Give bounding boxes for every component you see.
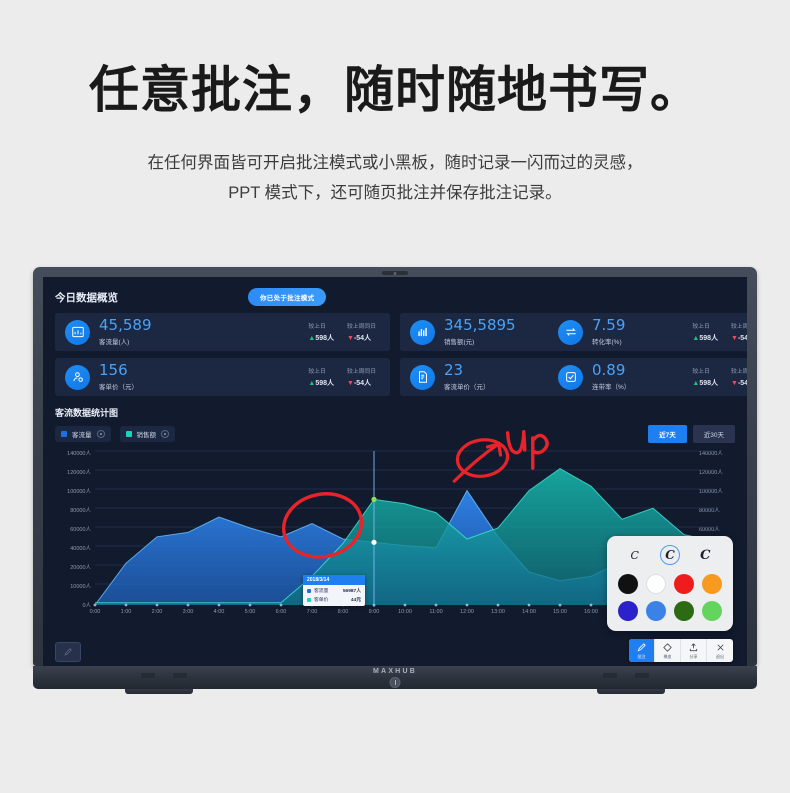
legend-toggle-icon[interactable]: [161, 430, 169, 438]
arrow-down-icon: ▼: [731, 380, 738, 387]
x-axis-tick: 12:00: [460, 609, 474, 615]
swatch-white[interactable]: [646, 574, 666, 594]
chart-tooltip: 2018/3/14 客流量 56987人 客单价 44元: [303, 575, 365, 606]
port: [603, 673, 617, 678]
legend-label: 销售额: [137, 429, 157, 439]
tooltip-row-unit-price: 客单价 44元: [303, 594, 365, 606]
promo-subtitle: 在任何界面皆可开启批注模式或小黑板，随时记录一闪而过的灵感， PPT 模式下，还…: [0, 148, 790, 209]
share-icon: [688, 642, 699, 653]
range-button-7days[interactable]: 近7天: [648, 425, 687, 443]
kpi-deltas: 较上日 ▲598人 较上周同日 ▼-54人: [308, 366, 380, 388]
pen-width-thin[interactable]: C: [625, 545, 645, 565]
delta-week-value: -54人: [354, 335, 371, 342]
legend-swatch-icon: [61, 431, 67, 437]
swatch-indigo[interactable]: [618, 601, 638, 621]
color-swatch-grid: [617, 574, 723, 621]
arrow-down-icon: ▼: [347, 380, 354, 387]
dashboard: 今日数据概览 你已处于批注模式 45,589 客流: [43, 277, 747, 666]
tool-label: 分享: [690, 654, 698, 660]
swatch-black[interactable]: [618, 574, 638, 594]
promo-subtitle-line-2: PPT 模式下，还可随页批注并保存批注记录。: [228, 184, 561, 202]
range-button-30days[interactable]: 近30天: [693, 425, 735, 443]
port: [141, 673, 155, 678]
kpi-card-visitors[interactable]: 45,589 客流量(人) 较上日 ▲598人 较上周同日 ▼-54人: [55, 313, 390, 351]
legend-toggle-icon[interactable]: [97, 430, 105, 438]
chart-legend: 客流量 销售额 近7天 近30天: [55, 425, 735, 443]
legend-item-visitors[interactable]: 客流量: [55, 426, 111, 442]
delta-week-caption: 较上周同日: [347, 366, 376, 375]
camera-icon: [382, 271, 408, 275]
x-axis-tick: 2:00: [152, 609, 163, 615]
eraser-icon: [662, 642, 673, 653]
promo-subtitle-line-1: 在任何界面皆可开启批注模式或小黑板，随时记录一闪而过的灵感，: [148, 154, 643, 172]
tool-label: 橡皮: [664, 654, 672, 660]
swatch-blue[interactable]: [646, 601, 666, 621]
kpi-deltas: 较上日 ▲598人 较上周同日 ▼-54人: [308, 321, 380, 343]
kpi-value: 45,589: [99, 318, 308, 333]
tool-exit[interactable]: 退出: [707, 639, 733, 662]
user-settings-icon: [65, 365, 90, 390]
pen-palette-panel[interactable]: C C C: [607, 536, 733, 631]
power-button[interactable]: [390, 677, 401, 688]
tool-eraser[interactable]: 橡皮: [655, 639, 681, 662]
kpi-label: 转化率(%): [592, 336, 692, 346]
device-screen: 今日数据概览 你已处于批注模式 45,589 客流: [43, 277, 747, 666]
x-axis-tick: 4:00: [214, 609, 225, 615]
dashboard-title: 今日数据概览: [55, 290, 118, 305]
range-button-group: 近7天 近30天: [648, 425, 735, 443]
delta-day-value: 598人: [315, 335, 334, 342]
kpi-label: 客流量(人): [99, 336, 308, 346]
chart-title: 客流数据统计图: [55, 406, 118, 419]
exchange-icon: [558, 320, 583, 345]
x-axis-tick: 10:00: [398, 609, 412, 615]
delta-day-caption: 较上日: [692, 366, 718, 375]
x-axis-tick: 14:00: [522, 609, 536, 615]
x-axis-tick: 8:00: [338, 609, 349, 615]
device-foot: [597, 689, 665, 694]
interactive-display-device: 今日数据概览 你已处于批注模式 45,589 客流: [33, 267, 757, 689]
delta-day-value: 598人: [699, 380, 718, 387]
chart-header: 客流数据统计图: [55, 406, 735, 419]
x-axis-tick: 9:00: [369, 609, 380, 615]
legend-item-sales[interactable]: 销售额: [120, 426, 176, 442]
document-icon: [410, 365, 435, 390]
kpi-value: 156: [99, 363, 308, 378]
swatch-light-green[interactable]: [702, 601, 722, 621]
delta-week-caption: 较上周同日: [731, 366, 747, 375]
arrow-down-icon: ▼: [731, 335, 738, 342]
legend-label: 客流量: [72, 429, 92, 439]
snapshot-thumbnail-button[interactable]: [55, 642, 81, 662]
annotation-toolbar: 批注 橡皮 分享: [629, 639, 733, 662]
x-axis-tick: 3:00: [183, 609, 194, 615]
swatch-red[interactable]: [674, 574, 694, 594]
delta-day-caption: 较上日: [308, 366, 334, 375]
swatch-orange[interactable]: [702, 574, 722, 594]
x-axis-tick: 6:00: [276, 609, 287, 615]
tool-label: 退出: [716, 654, 724, 660]
page-title: 任意批注，随时随地书写。: [0, 62, 790, 120]
kpi-deltas: 较上日 ▲598人 较上周同日 ▼-54人: [692, 321, 747, 343]
x-axis-tick: 0:00: [90, 609, 101, 615]
kpi-card-conversion[interactable]: 7.59 转化率(%) 较上日 ▲598人 较上周同日 ▼-54人: [548, 313, 747, 351]
device-stand: MAXHUB: [33, 666, 757, 689]
delta-day-value: 598人: [315, 380, 334, 387]
x-axis-tick: 5:00: [245, 609, 256, 615]
kpi-card-attach-rate[interactable]: 0.89 连带率（%） 较上日 ▲598人 较上周同日 ▼-54人: [548, 358, 747, 396]
swatch-dark-green[interactable]: [674, 601, 694, 621]
x-axis-tick: 13:00: [491, 609, 505, 615]
kpi-value: 7.59: [592, 318, 692, 333]
close-icon: [715, 642, 726, 653]
kpi-deltas: 较上日 ▲598人 较上周同日 ▼-54人: [692, 366, 747, 388]
device-foot: [125, 689, 193, 694]
pen-icon: [63, 647, 73, 657]
checkbox-icon: [558, 365, 583, 390]
delta-week-value: -54人: [354, 380, 371, 387]
tooltip-value: 56987人: [343, 587, 361, 594]
arrow-down-icon: ▼: [347, 335, 354, 342]
tooltip-date: 2018/3/14: [303, 575, 365, 585]
tooltip-value: 44元: [351, 596, 361, 603]
kpi-label: 客单价（元）: [99, 381, 308, 391]
x-axis-tick: 15:00: [553, 609, 567, 615]
delta-week-caption: 较上周同日: [347, 321, 376, 330]
bar-chart-icon: [410, 320, 435, 345]
tool-label: 批注: [638, 654, 646, 660]
port: [635, 673, 649, 678]
tooltip-swatch-icon: [307, 598, 311, 602]
pen-width-medium[interactable]: C: [660, 545, 680, 565]
device-bezel: 今日数据概览 你已处于批注模式 45,589 客流: [33, 267, 757, 666]
brand-logo: MAXHUB: [373, 668, 417, 675]
delta-day-caption: 较上日: [692, 321, 718, 330]
port: [173, 673, 187, 678]
tooltip-row-visitors: 客流量 56987人: [303, 585, 365, 594]
bar-chart-box-icon: [65, 320, 90, 345]
x-axis-tick: 11:00: [429, 609, 442, 615]
delta-week-caption: 较上周同日: [731, 321, 747, 330]
promo-section: 任意批注，随时随地书写。 在任何界面皆可开启批注模式或小黑板，随时记录一闪而过的…: [0, 0, 790, 209]
tooltip-label: 客流量: [314, 587, 328, 594]
pen-width-thick[interactable]: C: [695, 545, 715, 565]
delta-day-caption: 较上日: [308, 321, 334, 330]
kpi-card-unit-price[interactable]: 156 客单价（元） 较上日 ▲598人 较上周同日 ▼-54人: [55, 358, 390, 396]
delta-week-value: -54人: [738, 380, 747, 387]
x-axis-tick: 1:00: [121, 609, 132, 615]
delta-day-value: 598人: [699, 335, 718, 342]
kpi-value: 0.89: [592, 363, 692, 378]
x-axis-tick: 7:00: [307, 609, 318, 615]
delta-week-value: -54人: [738, 335, 747, 342]
tooltip-swatch-icon: [307, 589, 311, 593]
dashboard-header: 今日数据概览 你已处于批注模式: [55, 287, 735, 307]
pen-width-options: C C C: [617, 545, 723, 565]
annotation-mode-badge: 你已处于批注模式: [248, 288, 326, 306]
legend-swatch-icon: [126, 431, 132, 437]
x-axis-tick: 16:00: [584, 609, 598, 615]
tool-pen[interactable]: 批注: [629, 639, 655, 662]
tooltip-label: 客单价: [314, 596, 328, 603]
pen-icon: [636, 642, 647, 653]
tool-share[interactable]: 分享: [681, 639, 707, 662]
kpi-label: 连带率（%）: [592, 381, 692, 391]
